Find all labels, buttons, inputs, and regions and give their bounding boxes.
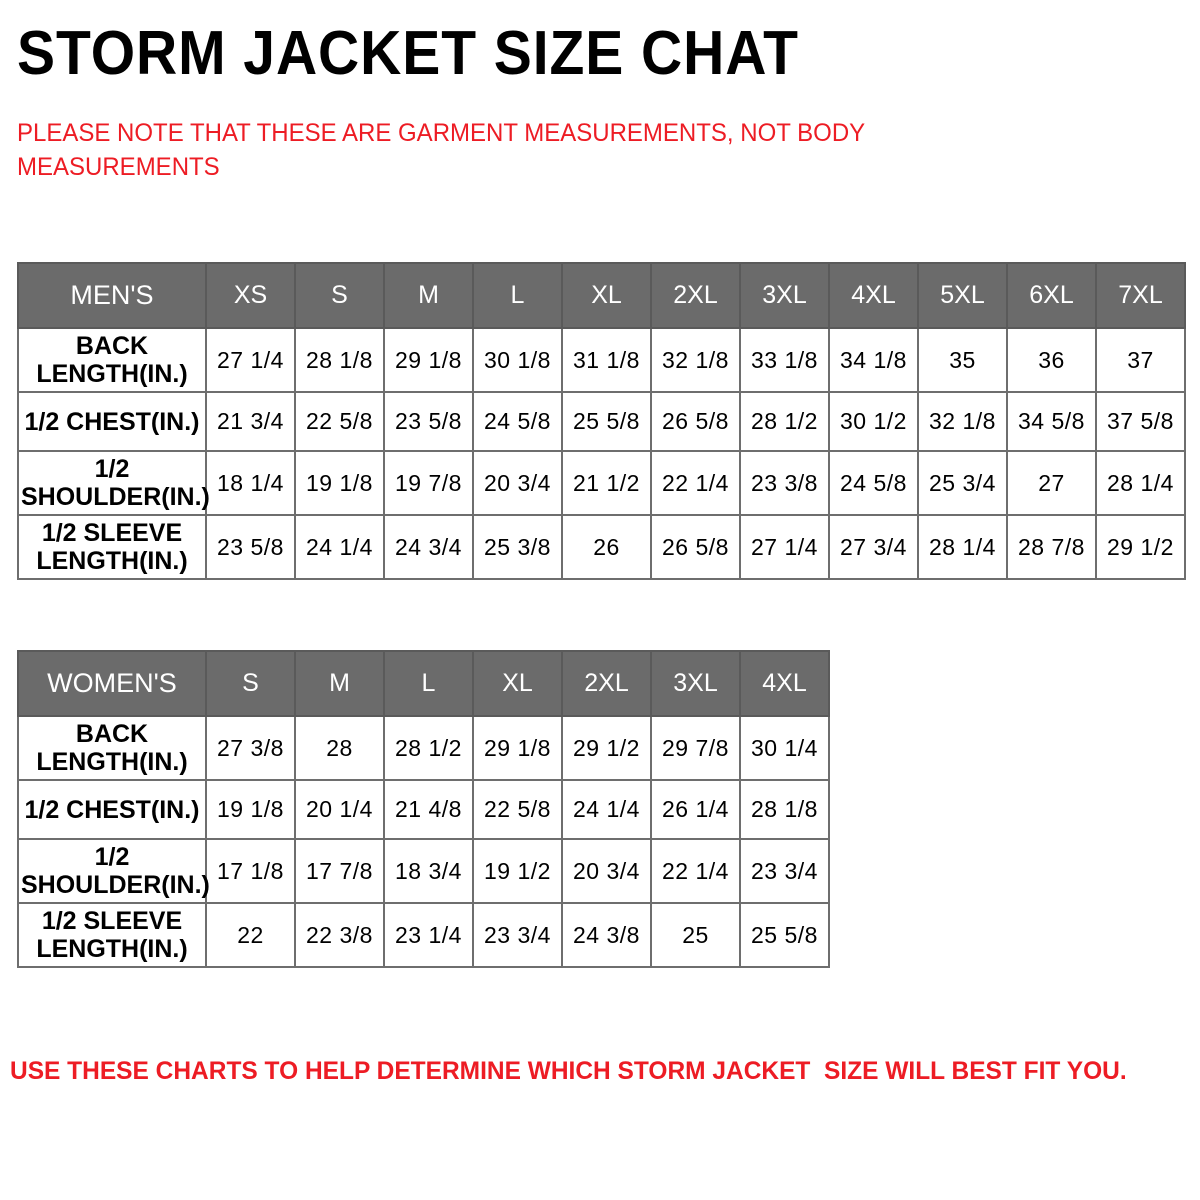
- womens-size-header-l: L: [384, 651, 473, 716]
- mens-cell-0-1: 28 1/8: [295, 328, 384, 392]
- womens-cell-1-2: 21 4/8: [384, 780, 473, 839]
- womens-size-header-m: M: [295, 651, 384, 716]
- table-row: 1/2 SLEEVELENGTH(IN.)2222 3/823 1/423 3/…: [18, 903, 829, 967]
- mens-cell-2-0: 18 1/4: [206, 451, 295, 515]
- mens-cell-3-1: 24 1/4: [295, 515, 384, 579]
- womens-size-header-s: S: [206, 651, 295, 716]
- womens-size-header-2xl: 2XL: [562, 651, 651, 716]
- mens-size-header-xs: XS: [206, 263, 295, 328]
- mens-cell-3-7: 27 3/4: [829, 515, 918, 579]
- womens-cell-2-1: 17 7/8: [295, 839, 384, 903]
- womens-cell-2-5: 22 1/4: [651, 839, 740, 903]
- mens-cell-1-10: 37 5/8: [1096, 392, 1185, 451]
- womens-cell-0-4: 29 1/2: [562, 716, 651, 780]
- mens-cell-0-5: 32 1/8: [651, 328, 740, 392]
- mens-cell-2-2: 19 7/8: [384, 451, 473, 515]
- mens-header-row: MEN'SXSSMLXL2XL3XL4XL5XL6XL7XL: [18, 263, 1185, 328]
- mens-cell-0-7: 34 1/8: [829, 328, 918, 392]
- womens-cell-0-2: 28 1/2: [384, 716, 473, 780]
- mens-row-label-2: 1/2 SHOULDER(IN.): [18, 451, 206, 515]
- mens-cell-3-5: 26 5/8: [651, 515, 740, 579]
- mens-cell-1-5: 26 5/8: [651, 392, 740, 451]
- mens-row-label-0: BACKLENGTH(IN.): [18, 328, 206, 392]
- table-row: 1/2 SHOULDER(IN.)18 1/419 1/819 7/820 3/…: [18, 451, 1185, 515]
- womens-cell-3-0: 22: [206, 903, 295, 967]
- mens-cell-0-9: 36: [1007, 328, 1096, 392]
- mens-cell-1-7: 30 1/2: [829, 392, 918, 451]
- mens-cell-3-10: 29 1/2: [1096, 515, 1185, 579]
- page-title: STORM JACKET SIZE CHAT: [17, 22, 799, 86]
- mens-cell-1-9: 34 5/8: [1007, 392, 1096, 451]
- womens-cell-0-3: 29 1/8: [473, 716, 562, 780]
- mens-cell-3-2: 24 3/4: [384, 515, 473, 579]
- womens-size-table: WOMEN'SSMLXL2XL3XL4XL BACKLENGTH(IN.)27 …: [17, 650, 830, 968]
- womens-cell-1-6: 28 1/8: [740, 780, 829, 839]
- mens-cell-0-0: 27 1/4: [206, 328, 295, 392]
- mens-cell-1-8: 32 1/8: [918, 392, 1007, 451]
- womens-cell-2-2: 18 3/4: [384, 839, 473, 903]
- womens-cell-0-0: 27 3/8: [206, 716, 295, 780]
- mens-cell-1-3: 24 5/8: [473, 392, 562, 451]
- mens-cell-3-6: 27 1/4: [740, 515, 829, 579]
- mens-size-header-4xl: 4XL: [829, 263, 918, 328]
- mens-cell-3-3: 25 3/8: [473, 515, 562, 579]
- mens-cell-2-7: 24 5/8: [829, 451, 918, 515]
- table-row: BACKLENGTH(IN.)27 3/82828 1/229 1/829 1/…: [18, 716, 829, 780]
- womens-cell-2-6: 23 3/4: [740, 839, 829, 903]
- mens-size-header-xl: XL: [562, 263, 651, 328]
- womens-cell-3-3: 23 3/4: [473, 903, 562, 967]
- mens-size-header-s: S: [295, 263, 384, 328]
- mens-cell-3-4: 26: [562, 515, 651, 579]
- mens-size-header-2xl: 2XL: [651, 263, 740, 328]
- mens-cell-1-2: 23 5/8: [384, 392, 473, 451]
- mens-cell-3-0: 23 5/8: [206, 515, 295, 579]
- mens-cell-1-6: 28 1/2: [740, 392, 829, 451]
- mens-cell-0-10: 37: [1096, 328, 1185, 392]
- womens-cell-1-5: 26 1/4: [651, 780, 740, 839]
- size-chart-page: STORM JACKET SIZE CHAT PLEASE NOTE THAT …: [0, 0, 1200, 1200]
- womens-table-body: BACKLENGTH(IN.)27 3/82828 1/229 1/829 1/…: [18, 716, 829, 967]
- womens-cell-0-6: 30 1/4: [740, 716, 829, 780]
- mens-cell-2-6: 23 3/8: [740, 451, 829, 515]
- mens-cell-2-3: 20 3/4: [473, 451, 562, 515]
- womens-row-label-0: BACKLENGTH(IN.): [18, 716, 206, 780]
- womens-header-row: WOMEN'SSMLXL2XL3XL4XL: [18, 651, 829, 716]
- womens-corner-header: WOMEN'S: [18, 651, 206, 716]
- mens-cell-2-8: 25 3/4: [918, 451, 1007, 515]
- womens-cell-2-4: 20 3/4: [562, 839, 651, 903]
- womens-cell-3-1: 22 3/8: [295, 903, 384, 967]
- mens-size-header-m: M: [384, 263, 473, 328]
- mens-cell-2-9: 27: [1007, 451, 1096, 515]
- mens-cell-1-4: 25 5/8: [562, 392, 651, 451]
- table-row: 1/2 SLEEVELENGTH(IN.)23 5/824 1/424 3/42…: [18, 515, 1185, 579]
- womens-cell-0-1: 28: [295, 716, 384, 780]
- womens-cell-3-5: 25: [651, 903, 740, 967]
- mens-cell-2-10: 28 1/4: [1096, 451, 1185, 515]
- mens-cell-0-2: 29 1/8: [384, 328, 473, 392]
- help-determine-note: USE THESE CHARTS TO HELP DETERMINE WHICH…: [10, 1056, 1137, 1086]
- garment-measurement-note: PLEASE NOTE THAT THESE ARE GARMENT MEASU…: [17, 116, 977, 184]
- womens-cell-1-1: 20 1/4: [295, 780, 384, 839]
- mens-row-label-3: 1/2 SLEEVELENGTH(IN.): [18, 515, 206, 579]
- mens-cell-0-4: 31 1/8: [562, 328, 651, 392]
- womens-cell-1-3: 22 5/8: [473, 780, 562, 839]
- womens-cell-1-0: 19 1/8: [206, 780, 295, 839]
- mens-size-header-l: L: [473, 263, 562, 328]
- womens-row-label-3: 1/2 SLEEVELENGTH(IN.): [18, 903, 206, 967]
- mens-cell-2-5: 22 1/4: [651, 451, 740, 515]
- womens-table-head: WOMEN'SSMLXL2XL3XL4XL: [18, 651, 829, 716]
- mens-corner-header: MEN'S: [18, 263, 206, 328]
- womens-size-header-4xl: 4XL: [740, 651, 829, 716]
- womens-cell-0-5: 29 7/8: [651, 716, 740, 780]
- mens-cell-2-4: 21 1/2: [562, 451, 651, 515]
- mens-cell-1-1: 22 5/8: [295, 392, 384, 451]
- mens-cell-2-1: 19 1/8: [295, 451, 384, 515]
- table-row: 1/2 CHEST(IN.)19 1/820 1/421 4/822 5/824…: [18, 780, 829, 839]
- mens-cell-3-8: 28 1/4: [918, 515, 1007, 579]
- mens-cell-0-6: 33 1/8: [740, 328, 829, 392]
- womens-cell-2-3: 19 1/2: [473, 839, 562, 903]
- mens-cell-0-3: 30 1/8: [473, 328, 562, 392]
- table-row: 1/2 SHOULDER(IN.)17 1/817 7/818 3/419 1/…: [18, 839, 829, 903]
- womens-cell-3-6: 25 5/8: [740, 903, 829, 967]
- mens-size-table: MEN'SXSSMLXL2XL3XL4XL5XL6XL7XL BACKLENGT…: [17, 262, 1186, 580]
- table-row: BACKLENGTH(IN.)27 1/428 1/829 1/830 1/83…: [18, 328, 1185, 392]
- womens-size-header-xl: XL: [473, 651, 562, 716]
- mens-size-header-7xl: 7XL: [1096, 263, 1185, 328]
- mens-cell-0-8: 35: [918, 328, 1007, 392]
- mens-size-header-6xl: 6XL: [1007, 263, 1096, 328]
- womens-cell-3-2: 23 1/4: [384, 903, 473, 967]
- mens-row-label-1: 1/2 CHEST(IN.): [18, 392, 206, 451]
- mens-cell-3-9: 28 7/8: [1007, 515, 1096, 579]
- mens-table-head: MEN'SXSSMLXL2XL3XL4XL5XL6XL7XL: [18, 263, 1185, 328]
- mens-size-header-3xl: 3XL: [740, 263, 829, 328]
- womens-row-label-2: 1/2 SHOULDER(IN.): [18, 839, 206, 903]
- womens-cell-1-4: 24 1/4: [562, 780, 651, 839]
- womens-size-header-3xl: 3XL: [651, 651, 740, 716]
- mens-cell-1-0: 21 3/4: [206, 392, 295, 451]
- table-row: 1/2 CHEST(IN.)21 3/422 5/823 5/824 5/825…: [18, 392, 1185, 451]
- womens-cell-3-4: 24 3/8: [562, 903, 651, 967]
- mens-size-header-5xl: 5XL: [918, 263, 1007, 328]
- mens-table-body: BACKLENGTH(IN.)27 1/428 1/829 1/830 1/83…: [18, 328, 1185, 579]
- womens-cell-2-0: 17 1/8: [206, 839, 295, 903]
- womens-row-label-1: 1/2 CHEST(IN.): [18, 780, 206, 839]
